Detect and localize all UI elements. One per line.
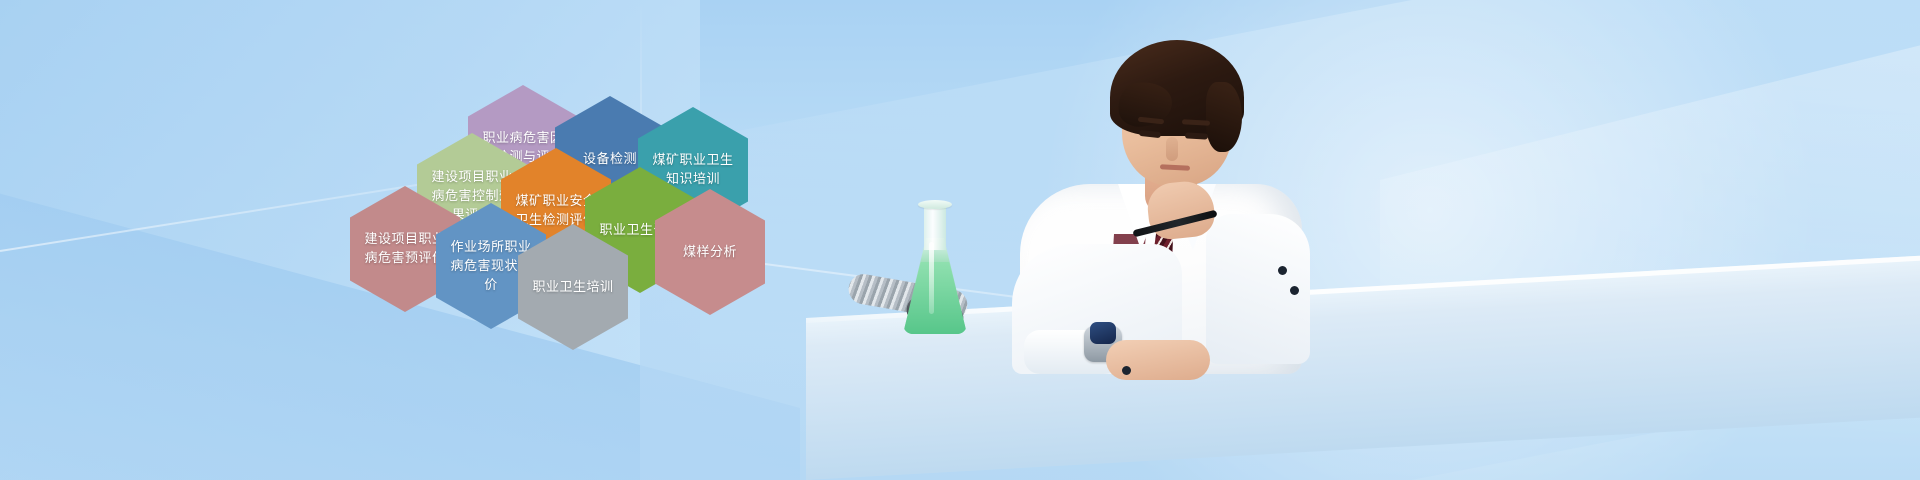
flask-highlight — [929, 242, 934, 314]
erlenmeyer-flask — [903, 198, 967, 334]
person-hair-side — [1206, 82, 1242, 152]
flask-rim — [918, 200, 952, 209]
person-nose — [1166, 137, 1178, 161]
person-wristwatch-face — [1090, 322, 1116, 344]
hex-label: 煤样分析 — [665, 243, 755, 262]
person-eye-right — [1185, 132, 1208, 139]
person-shirt-button-3 — [1122, 366, 1131, 375]
occupational-health-services-hexagon-cluster: 职业病危害因素检测与评价设备检测煤矿职业卫生知识培训建设项目职业病危害控制效果评… — [0, 0, 820, 400]
hex-label: 职业卫生培训 — [528, 278, 618, 297]
person-shirt-button-1 — [1278, 266, 1287, 275]
person-shirt-button-2 — [1290, 286, 1299, 295]
hero-banner: 职业病危害因素检测与评价设备检测煤矿职业卫生知识培训建设项目职业病危害控制效果评… — [0, 0, 1920, 480]
flask-green-liquid — [903, 262, 967, 334]
flask-neck — [924, 206, 946, 250]
thinking-businessman-photo — [1010, 34, 1310, 364]
person-hand-on-desk — [1106, 340, 1210, 380]
